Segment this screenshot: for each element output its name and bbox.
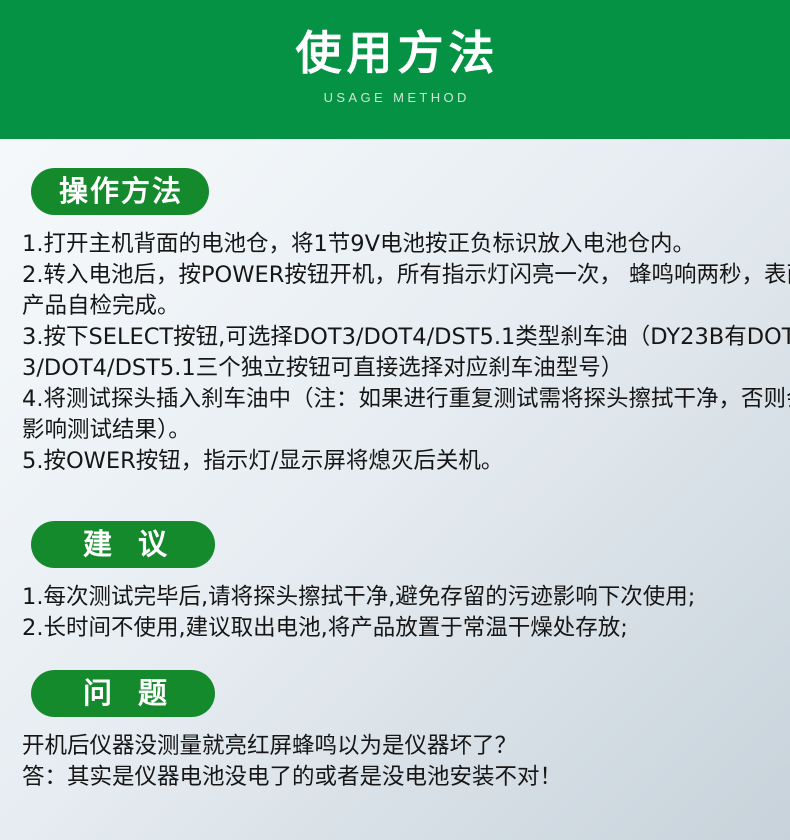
section-question-badge-row: 问题 — [31, 670, 790, 717]
section-header-operation-method: 操作方法 — [31, 168, 209, 215]
page-subtitle: USAGE METHOD — [320, 90, 470, 106]
section-question: 问题 开机后仪器没测量就亮红屏蜂鸣以为是仪器坏了？ 答：其实是仪器电池没电了的或… — [0, 670, 790, 793]
section-advice: 建议 1.每次测试完毕后,请将探头擦拭干净,避免存留的污迹影响下次使用; 2.长… — [0, 521, 790, 644]
usage-method-page: 使用方法 USAGE METHOD 操作方法 1.打开主机背面的电池仓，将1节9… — [0, 0, 790, 840]
advice-text: 1.每次测试完毕后,请将探头擦拭干净,避免存留的污迹影响下次使用; 2.长时间不… — [22, 582, 790, 644]
section-operation-method: 操作方法 1.打开主机背面的电池仓，将1节9V电池按正负标识放入电池仓内。 2.… — [0, 168, 790, 477]
section-operation-badge-row: 操作方法 — [31, 168, 790, 215]
header-banner: 使用方法 USAGE METHOD — [0, 0, 790, 139]
section-advice-badge-row: 建议 — [31, 521, 790, 568]
page-title: 使用方法 — [291, 26, 500, 80]
section-header-question: 问题 — [31, 670, 215, 717]
question-answer-text: 开机后仪器没测量就亮红屏蜂鸣以为是仪器坏了？ 答：其实是仪器电池没电了的或者是没… — [22, 731, 790, 793]
section-header-advice: 建议 — [31, 521, 215, 568]
operation-method-text: 1.打开主机背面的电池仓，将1节9V电池按正负标识放入电池仓内。 2.转入电池后… — [22, 229, 790, 477]
